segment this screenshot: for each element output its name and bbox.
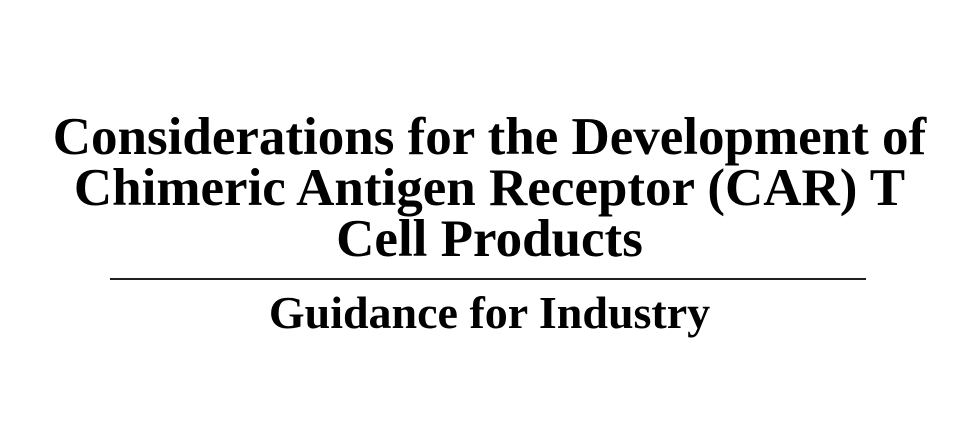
horizontal-rule xyxy=(110,278,866,280)
page-title-line-2: Chimeric Antigen Receptor (CAR) T xyxy=(0,163,979,214)
page-subtitle: Guidance for Industry xyxy=(0,288,979,338)
page-title-line-1: Considerations for the Development of xyxy=(0,112,979,163)
page-title: Considerations for the Development of Ch… xyxy=(0,112,979,265)
title-block: Considerations for the Development of Ch… xyxy=(0,112,979,265)
page-title-line-3: Cell Products xyxy=(0,214,979,265)
document-page: Considerations for the Development of Ch… xyxy=(0,0,979,423)
